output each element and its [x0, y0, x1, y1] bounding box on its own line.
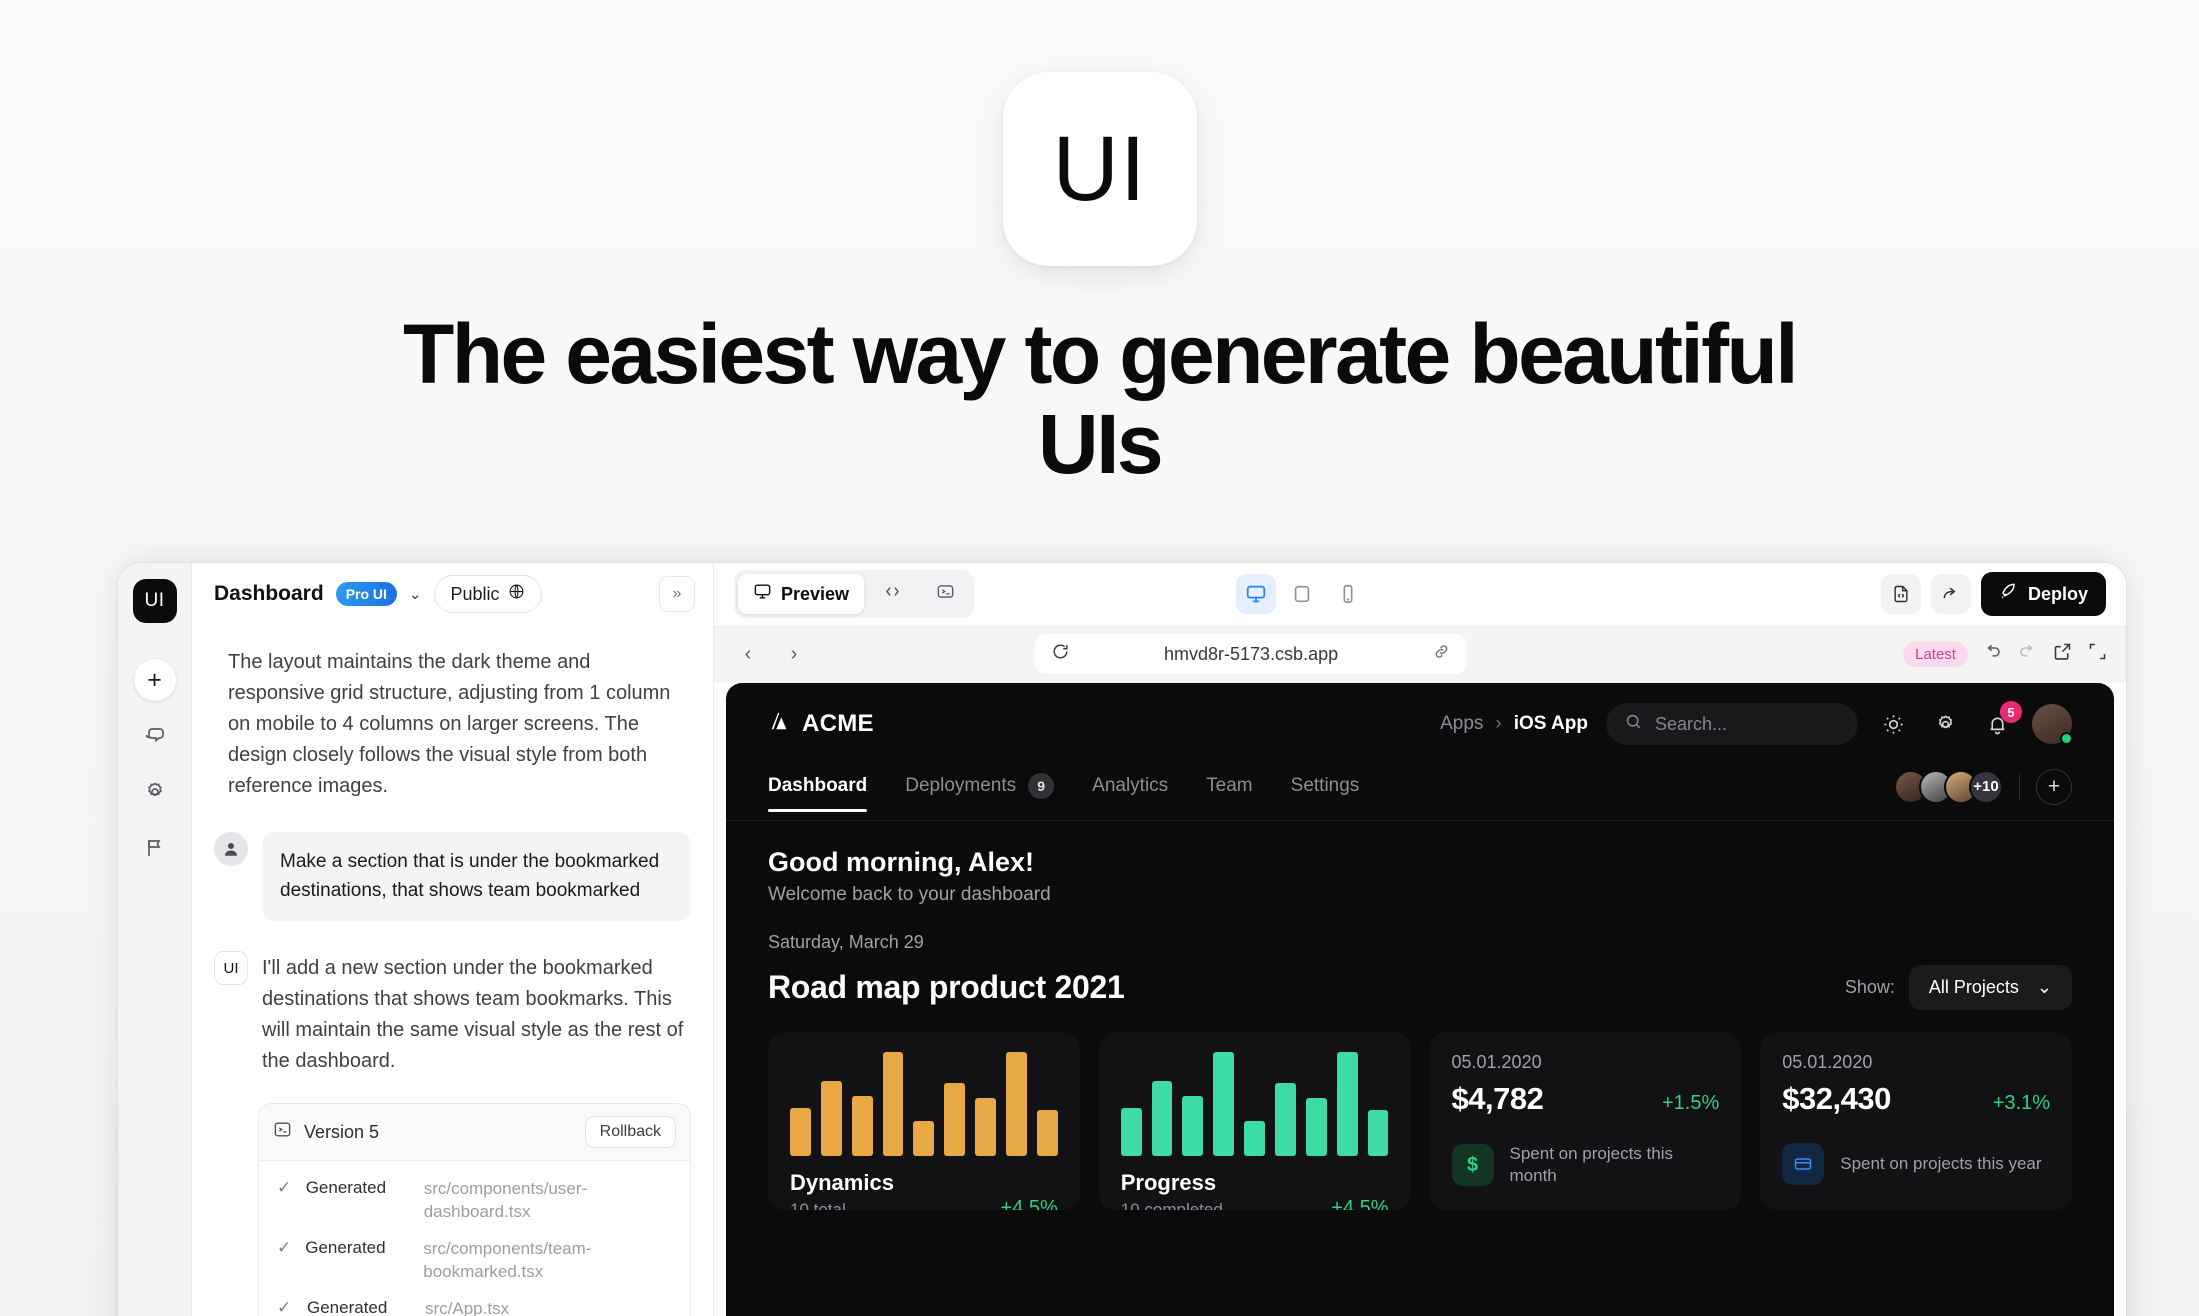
bar	[1306, 1098, 1327, 1156]
app-logo-text: UI	[1053, 117, 1147, 222]
file-status: Generated	[307, 1298, 411, 1316]
ide-window: UI +	[118, 563, 2126, 1316]
stat-card-year[interactable]: 05.01.2020 $32,430 +3.1%	[1760, 1032, 2072, 1210]
stat-value: $4,782	[1452, 1081, 1544, 1117]
latest-badge: Latest	[1903, 642, 1968, 667]
gear-icon[interactable]	[1928, 707, 1962, 741]
chat-messages: The layout maintains the dark theme and …	[192, 625, 713, 1316]
chart-subtitle: 10 total	[790, 1200, 894, 1210]
chart-card-progress[interactable]: Progress 10 completed +4.5%	[1099, 1032, 1411, 1210]
file-path: src/components/team-bookmarked.tsx	[423, 1238, 672, 1284]
breadcrumb-current: iOS App	[1514, 713, 1588, 735]
user-avatar-icon	[214, 832, 248, 866]
tab-terminal[interactable]	[921, 574, 970, 614]
brand-name: ACME	[802, 710, 874, 738]
app-logo: UI	[1003, 72, 1197, 266]
user-message-row: Make a section that is under the bookmar…	[214, 832, 691, 921]
show-label: Show:	[1845, 977, 1895, 998]
bar	[821, 1081, 842, 1156]
projects-dropdown[interactable]: All Projects ⌄	[1909, 965, 2072, 1010]
pro-badge: Pro UI	[336, 582, 397, 606]
chevron-down-icon: ⌄	[2037, 977, 2052, 998]
terminal-icon	[273, 1120, 292, 1144]
assistant-avatar-text: UI	[224, 960, 239, 977]
tab-team[interactable]: Team	[1206, 775, 1252, 811]
tablet-viewport[interactable]	[1282, 574, 1322, 614]
view-mode-tabs: Preview	[734, 570, 974, 618]
dollar-icon: $	[1452, 1144, 1494, 1186]
check-icon: ✓	[277, 1238, 291, 1258]
chart-delta: +4.5%	[1000, 1197, 1057, 1210]
assistant-intro-message: The layout maintains the dark theme and …	[214, 647, 691, 802]
breadcrumb: Apps › iOS App	[1440, 713, 1588, 735]
new-project-button[interactable]: +	[134, 659, 176, 701]
tab-preview[interactable]: Preview	[738, 574, 864, 614]
chart-title: Dynamics	[790, 1170, 894, 1196]
projects-dropdown-value: All Projects	[1929, 977, 2019, 998]
chart-delta: +4.5%	[1331, 1197, 1388, 1210]
settings-icon[interactable]	[134, 771, 176, 813]
tab-settings[interactable]: Settings	[1291, 775, 1360, 811]
acme-logo-icon	[768, 710, 790, 739]
stat-value: $32,430	[1782, 1081, 1891, 1117]
toolbar-actions: Deploy	[1881, 572, 2106, 616]
bar	[944, 1083, 965, 1156]
browser-bar: ‹ › hmvd8r-5173.csb.app	[714, 625, 2126, 683]
preview-toolbar: Preview	[714, 563, 2126, 625]
stat-footer: $ Spent on projects this month	[1452, 1143, 1720, 1187]
tab-code[interactable]	[868, 574, 917, 614]
undo-icon[interactable]	[1982, 641, 2003, 667]
chat-header: Dashboard Pro UI ⌄ Public »	[192, 563, 713, 625]
more-members-badge[interactable]: +10	[1969, 770, 2003, 804]
bar	[1037, 1110, 1058, 1156]
app-header: ACME Apps › iOS App Search...	[726, 683, 2114, 765]
stat-label: Spent on projects this month	[1510, 1143, 1720, 1187]
dollar-glyph: $	[1467, 1154, 1478, 1177]
notifications-icon[interactable]: 5	[1980, 707, 2014, 741]
bar-chart-dynamics	[790, 1052, 1058, 1156]
assistant-avatar: UI	[214, 951, 248, 985]
list-item: ✓ Generated src/components/team-bookmark…	[259, 1231, 690, 1291]
tab-settings-label: Settings	[1291, 775, 1360, 797]
bar	[883, 1052, 904, 1156]
version-header: Version 5 Rollback	[259, 1104, 690, 1160]
rail-logo[interactable]: UI	[133, 579, 177, 623]
bar	[1368, 1110, 1389, 1156]
url-bar[interactable]: hmvd8r-5173.csb.app	[1035, 634, 1467, 674]
section-header: Road map product 2021 Show: All Projects…	[768, 965, 2072, 1010]
rocket-icon	[1999, 582, 2018, 606]
terminal-icon	[936, 582, 955, 606]
preview-panel: Preview	[714, 563, 2126, 1316]
stat-card-month[interactable]: 05.01.2020 $4,782 +1.5% $ Spent on proje…	[1430, 1032, 1742, 1210]
rail-logo-text: UI	[145, 590, 165, 612]
tab-analytics[interactable]: Analytics	[1092, 775, 1168, 811]
tab-deployments[interactable]: Deployments 9	[905, 773, 1054, 813]
app-tabs: Dashboard Deployments 9 Analytics Team S…	[726, 765, 2114, 821]
hero-section: UI The easiest way to generate beautiful…	[0, 0, 2199, 490]
preview-app: ACME Apps › iOS App Search...	[726, 683, 2114, 1316]
page-title: The easiest way to generate beautiful UI…	[360, 310, 1840, 490]
assistant-message-row: UI I'll add a new section under the book…	[214, 951, 691, 1077]
list-item: ✓ Generated src/components/user-dashboar…	[259, 1171, 690, 1231]
search-icon	[1624, 712, 1643, 736]
avatar[interactable]	[2032, 704, 2072, 744]
bar	[975, 1098, 996, 1156]
chart-subtitle: 10 completed	[1121, 1200, 1223, 1210]
bar	[1121, 1108, 1142, 1156]
add-member-button[interactable]: +	[2036, 769, 2072, 805]
bar	[1006, 1052, 1027, 1156]
icon-rail: UI +	[118, 563, 192, 1316]
app-content: Good morning, Alex! Welcome back to your…	[726, 821, 2114, 1316]
chart-title: Progress	[1121, 1170, 1223, 1196]
version-card: Version 5 Rollback ✓ Generated src/compo…	[258, 1103, 691, 1316]
monitor-icon	[753, 582, 772, 606]
show-filter: Show: All Projects ⌄	[1845, 965, 2072, 1010]
forward-button[interactable]: ›	[778, 638, 810, 670]
stat-value-row: $32,430 +3.1%	[1782, 1081, 2050, 1117]
chart-card-footer: Progress 10 completed +4.5%	[1121, 1170, 1389, 1210]
source-file-button[interactable]	[1881, 574, 1921, 614]
file-path: src/App.tsx	[425, 1298, 509, 1316]
stat-date: 05.01.2020	[1782, 1052, 2050, 1073]
generated-file-list: ✓ Generated src/components/user-dashboar…	[259, 1160, 690, 1316]
divider	[2019, 774, 2020, 800]
bar	[790, 1108, 811, 1156]
bar	[1337, 1052, 1358, 1156]
search-placeholder: Search...	[1655, 714, 1727, 735]
stat-delta: +3.1%	[1993, 1092, 2050, 1115]
stat-label: Spent on projects this year	[1840, 1153, 2041, 1175]
stat-delta: +1.5%	[1662, 1092, 1719, 1115]
notification-badge: 5	[2000, 701, 2022, 723]
plus-icon: +	[147, 668, 162, 693]
bar	[1182, 1096, 1203, 1156]
link-icon[interactable]	[1432, 642, 1451, 666]
online-status-dot	[2060, 732, 2073, 745]
plus-icon: +	[2048, 775, 2060, 799]
brand[interactable]: ACME	[768, 710, 874, 739]
globe-icon	[508, 583, 525, 605]
redo-icon[interactable]	[2017, 641, 2038, 667]
share-button[interactable]	[1931, 574, 1971, 614]
greeting: Good morning, Alex!	[768, 847, 2072, 878]
chevron-down-icon[interactable]: ⌄	[409, 585, 422, 603]
flag-icon[interactable]	[134, 827, 176, 869]
back-button[interactable]: ‹	[732, 638, 764, 670]
stat-value-row: $4,782 +1.5%	[1452, 1081, 1720, 1117]
cards-grid: Dynamics 10 total +4.5% Progress	[768, 1032, 2072, 1210]
file-status: Generated	[305, 1238, 409, 1258]
theme-toggle-icon[interactable]	[1876, 707, 1910, 741]
collapse-panel-button[interactable]: »	[659, 576, 695, 612]
breadcrumb-parent[interactable]: Apps	[1440, 713, 1483, 735]
mobile-viewport[interactable]	[1328, 574, 1368, 614]
rollback-button[interactable]: Rollback	[585, 1116, 676, 1148]
deploy-button[interactable]: Deploy	[1981, 572, 2106, 616]
url-text: hmvd8r-5173.csb.app	[1084, 644, 1418, 665]
members-bar: +10 +	[1894, 769, 2072, 817]
bar	[1244, 1121, 1265, 1156]
chevron-right-double-icon: »	[673, 585, 682, 603]
chat-panel: Dashboard Pro UI ⌄ Public » The layout m…	[192, 563, 714, 1316]
bar	[913, 1121, 934, 1156]
check-icon: ✓	[277, 1298, 293, 1316]
tab-dashboard-label: Dashboard	[768, 775, 867, 797]
visibility-label: Public	[451, 584, 500, 605]
deploy-label: Deploy	[2028, 584, 2088, 605]
check-icon: ✓	[277, 1178, 292, 1198]
list-item: ✓ Generated src/App.tsx	[259, 1291, 690, 1316]
bar	[1275, 1083, 1296, 1156]
search-input[interactable]: Search...	[1606, 703, 1858, 745]
browser-actions: Latest	[1903, 641, 2108, 667]
project-title: Dashboard	[214, 582, 324, 606]
viewport-switcher	[1236, 574, 1368, 614]
tab-analytics-label: Analytics	[1092, 775, 1168, 797]
tab-preview-label: Preview	[781, 584, 849, 605]
greeting-subtitle: Welcome back to your dashboard	[768, 884, 2072, 906]
tab-dashboard[interactable]: Dashboard	[768, 775, 867, 811]
file-path: src/components/user-dashboard.tsx	[424, 1178, 672, 1224]
deployments-count: 9	[1028, 773, 1054, 799]
tab-deployments-label: Deployments	[905, 775, 1016, 797]
file-status: Generated	[306, 1178, 410, 1198]
chart-card-dynamics[interactable]: Dynamics 10 total +4.5%	[768, 1032, 1080, 1210]
bar	[1213, 1052, 1234, 1156]
bar-chart-progress	[1121, 1052, 1389, 1156]
stat-footer: Spent on projects this year	[1782, 1143, 2050, 1185]
tab-team-label: Team	[1206, 775, 1252, 797]
assistant-reply: I'll add a new section under the bookmar…	[262, 951, 691, 1077]
page-root: UI The easiest way to generate beautiful…	[0, 0, 2199, 1316]
stat-date: 05.01.2020	[1452, 1052, 1720, 1073]
chat-icon[interactable]	[134, 715, 176, 757]
fullscreen-icon[interactable]	[2087, 641, 2108, 667]
desktop-viewport[interactable]	[1236, 574, 1276, 614]
member-avatars[interactable]: +10	[1894, 770, 2003, 804]
breadcrumb-separator: ›	[1495, 713, 1501, 735]
code-icon	[883, 582, 902, 606]
visibility-button[interactable]: Public	[434, 575, 542, 613]
reload-icon[interactable]	[1051, 642, 1070, 666]
current-date: Saturday, March 29	[768, 932, 2072, 953]
bar	[1152, 1081, 1173, 1156]
user-message: Make a section that is under the bookmar…	[262, 832, 691, 921]
open-external-icon[interactable]	[2052, 641, 2073, 667]
card-icon	[1782, 1143, 1824, 1185]
section-title: Road map product 2021	[768, 969, 1124, 1006]
bar	[852, 1096, 873, 1156]
version-title: Version 5	[304, 1122, 379, 1143]
chart-card-footer: Dynamics 10 total +4.5%	[790, 1170, 1058, 1210]
